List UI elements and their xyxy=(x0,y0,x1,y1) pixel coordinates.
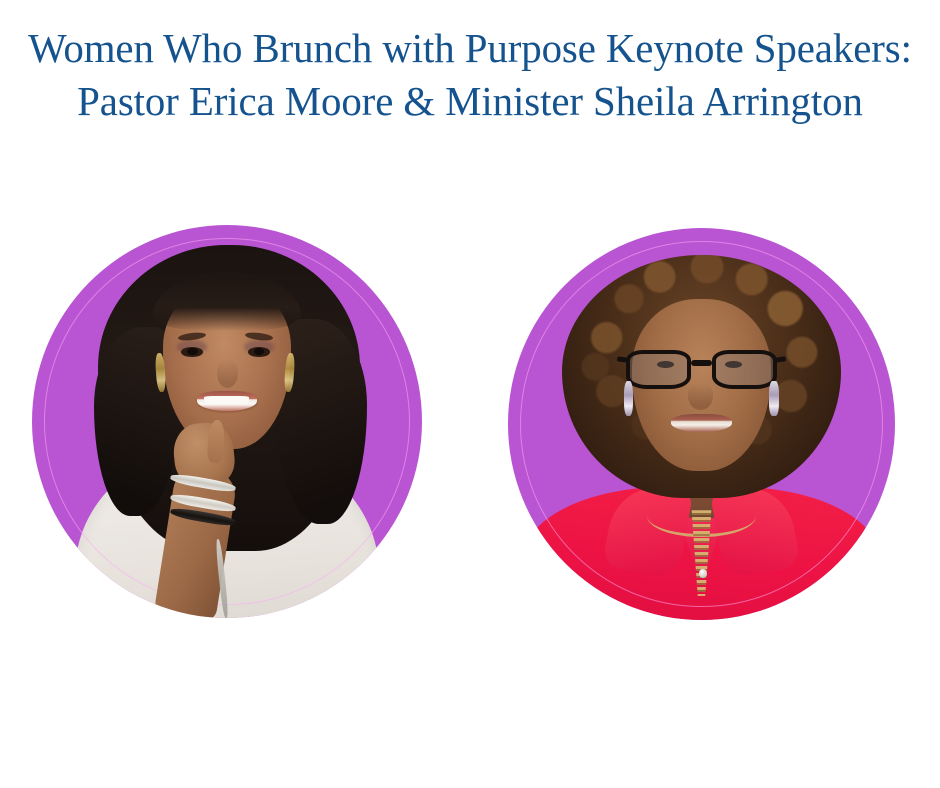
eye-left xyxy=(181,347,203,357)
speaker-portrait-erica-moore xyxy=(32,225,422,618)
title-line-2: Pastor Erica Moore & Minister Sheila Arr… xyxy=(7,75,933,128)
earring-left xyxy=(624,381,633,416)
nose xyxy=(217,359,238,388)
speaker-portrait-sheila-arrington xyxy=(508,228,895,620)
eyeglasses-icon xyxy=(626,350,777,389)
portrait-photo-erica-moore xyxy=(32,225,422,618)
shirt-button xyxy=(699,569,708,578)
title-line-1: Women Who Brunch with Purpose Keynote Sp… xyxy=(7,22,933,75)
portrait-photo-sheila-arrington xyxy=(508,228,895,620)
eyeglass-bridge xyxy=(691,360,712,365)
teeth xyxy=(204,396,249,404)
promo-flyer: Women Who Brunch with Purpose Keynote Sp… xyxy=(0,0,940,788)
page-title: Women Who Brunch with Purpose Keynote Sp… xyxy=(0,22,940,128)
eye-right xyxy=(248,347,270,357)
eyeglass-lens-right xyxy=(712,350,777,389)
earring-right xyxy=(769,381,778,416)
eyeglass-lens-left xyxy=(626,350,691,389)
